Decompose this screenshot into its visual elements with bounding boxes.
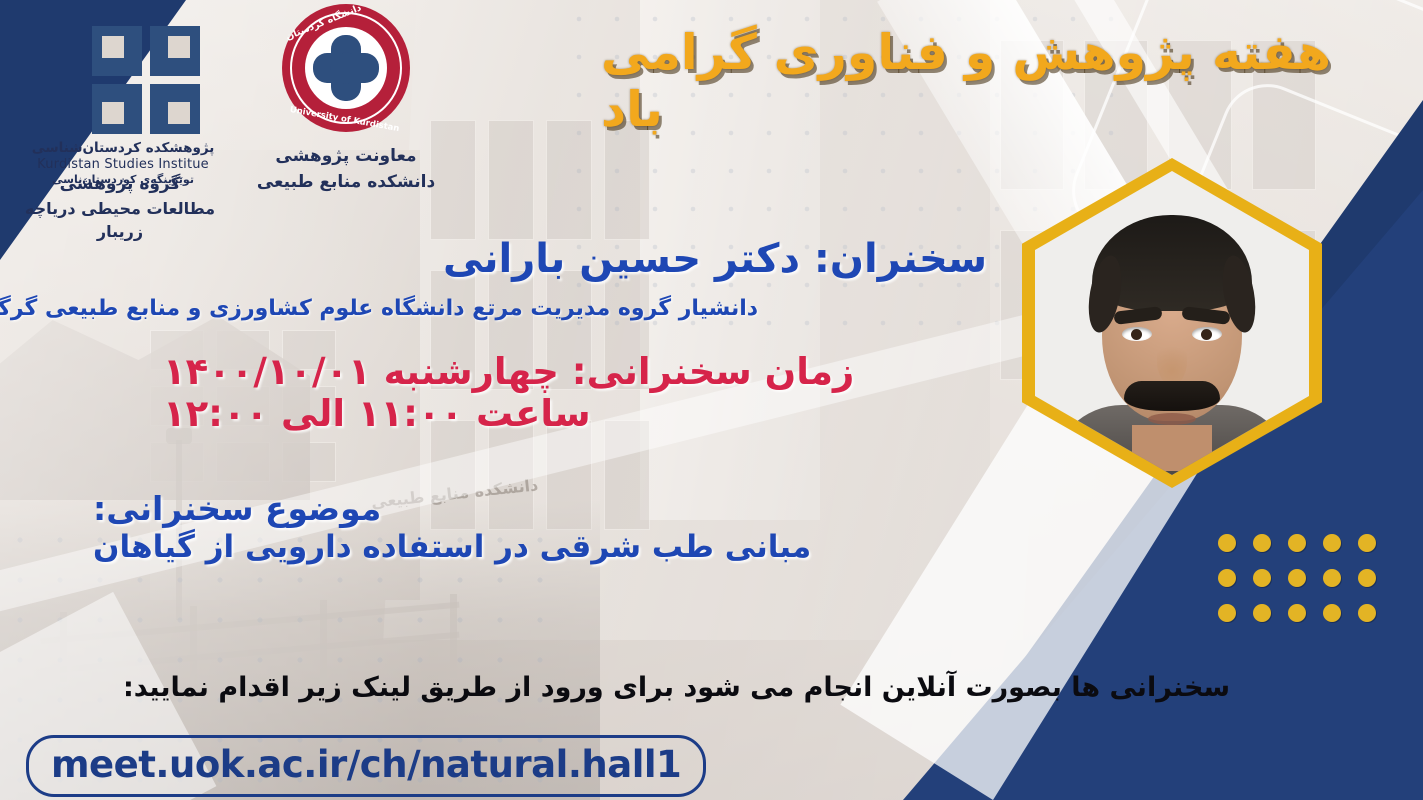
face-nose <box>1157 339 1187 385</box>
face-eye-right <box>1192 327 1222 341</box>
topic-label: موضوع سخنرانی: <box>93 490 993 528</box>
research-deputy-line1: معاونت پژوهشی <box>246 144 446 170</box>
university-of-kurdistan-seal: دانشگاه کردستان University of Kurdistan <box>282 4 410 132</box>
speaker-name: سخنران: دکتر حسین بارانی <box>443 236 1003 282</box>
seminar-poster: دانشکده منابع طبیعی پژوهشکده کردستان‌شنا… <box>0 0 1423 800</box>
meeting-link-text: meet.uok.ac.ir/ch/natural.hall1 <box>51 743 681 786</box>
face-eye-left <box>1122 327 1152 341</box>
speaker-affiliation: دانشیار گروه مدیریت مرتع دانشگاه علوم کش… <box>0 296 1011 321</box>
schedule-date: زمان سخنرانی: چهارشنبه ۱۴۰۰/۱۰/۰۱ <box>163 352 953 393</box>
gold-dot-grid-decor <box>1218 534 1376 622</box>
institute-name-en: Kurdistan Studies Institue <box>8 157 238 173</box>
topic-title: مبانی طب شرقی در استفاده دارویی از گیاها… <box>93 528 993 567</box>
research-group-caption: گروه پژوهشی مطالعات محیطی دریاچه زریبار <box>0 172 240 243</box>
page-title: هفته پژوهش و فناوری گرامی باد <box>601 24 1401 138</box>
meeting-link-button[interactable]: meet.uok.ac.ir/ch/natural.hall1 <box>26 735 706 797</box>
face-mouth <box>1148 413 1196 425</box>
seal-text-en: University of Kurdistan <box>282 4 410 132</box>
research-deputy-caption: معاونت پژوهشی دانشکده منابع طبیعی <box>246 144 446 195</box>
institute-name-fa: پژوهشکده کردستان‌شناسی <box>8 140 238 157</box>
faculty-line: دانشکده منابع طبیعی <box>246 170 446 196</box>
research-group-line1: گروه پژوهشی <box>0 172 240 197</box>
schedule-time: ساعت ۱۱:۰۰ الی ۱۲:۰۰ <box>163 393 953 436</box>
kurdistan-studies-institute-logo <box>92 26 200 134</box>
face-moustache <box>1124 381 1220 411</box>
portrait-face <box>1088 217 1256 447</box>
research-group-line2: مطالعات محیطی دریاچه زریبار <box>0 197 240 243</box>
schedule-block: زمان سخنرانی: چهارشنبه ۱۴۰۰/۱۰/۰۱ ساعت ۱… <box>163 352 953 435</box>
speaker-portrait <box>1022 158 1322 488</box>
online-instructions: سخنرانی ها بصورت آنلاین انجام می شود برا… <box>123 672 1413 703</box>
topic-block: موضوع سخنرانی: مبانی طب شرقی در استفاده … <box>93 490 993 567</box>
